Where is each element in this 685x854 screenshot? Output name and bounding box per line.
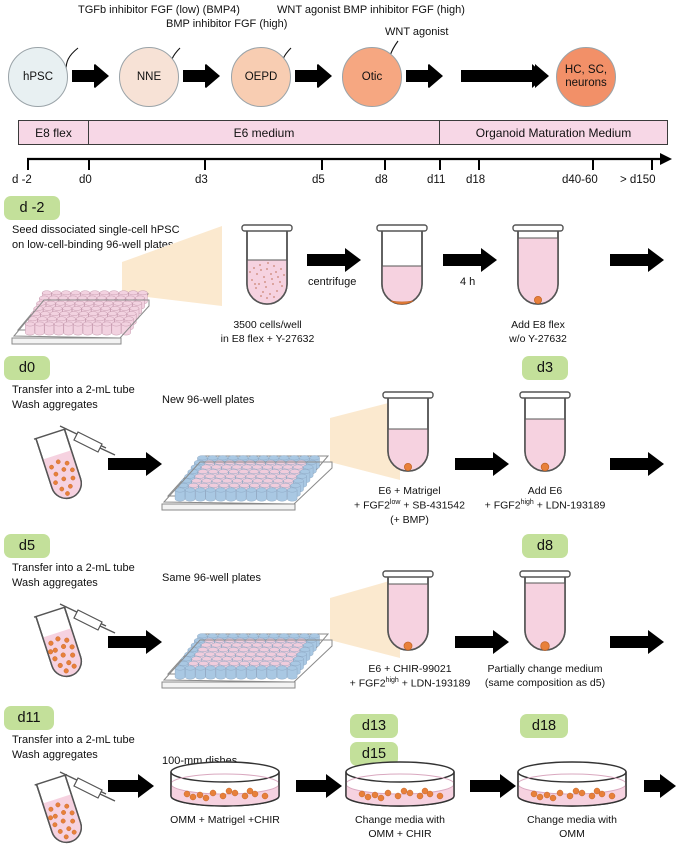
timeline-band-omm: Organoid Maturation Medium [439, 120, 668, 145]
day-badge-d3[interactable]: d3 [522, 356, 568, 380]
dish-d13-caption: Change media with OMM + CHIR [335, 813, 465, 841]
caption-line-3: (+ BMP) [352, 513, 467, 527]
caption-line-2-a: + FGF2 [485, 500, 521, 512]
caption-line-2-sup: high [521, 499, 534, 506]
day-badge-d18[interactable]: d18 [520, 714, 568, 738]
caption-line-1: E6 + Matrigel [352, 484, 467, 498]
dish-d11-caption: OMM + Matrigel +CHIR [160, 813, 290, 827]
lineage-row: TGFb inhibitor FGF (low) (BMP4) BMP inhi… [0, 0, 685, 118]
tube-d-2-e8flex[interactable] [508, 222, 568, 314]
day-badge-d11[interactable]: d11 [4, 706, 54, 730]
timeline-tick-d5: d5 [312, 174, 325, 186]
arrow-row1-end [610, 248, 672, 274]
tube-d3-adde6[interactable] [515, 389, 575, 481]
caption-line-2-a: + FGF2 [350, 678, 386, 690]
plate-96-well-pink[interactable] [8, 250, 153, 345]
timeline-tick-d40-60: d40-60 [562, 174, 598, 186]
caption-line-2-b: + SB-431542 [400, 500, 465, 512]
tube-d-2-seeded[interactable] [237, 222, 297, 314]
row-d5: d5 Transfer into a 2-mL tube Wash aggreg… [0, 528, 685, 696]
tube-d0-matrigel[interactable] [378, 389, 438, 481]
tube-d-2-seeded-caption: 3500 cells/well in E8 flex + Y-27632 [215, 318, 320, 346]
timeline-tick-d11: d11 [427, 174, 445, 186]
row-d11: d11 Transfer into a 2-mL tube Wash aggre… [0, 700, 685, 844]
tube-d0-matrigel-caption: E6 + Matrigel + FGF2low + SB-431542 (+ B… [352, 484, 467, 527]
arrow-4h [443, 248, 505, 274]
tube-d5-chir[interactable] [378, 568, 438, 660]
caption-line-2-sup: high [386, 677, 399, 684]
day-badge-d8[interactable]: d8 [522, 534, 568, 558]
arrow-row4-end [644, 774, 685, 800]
dish-d13-omm-chir[interactable] [340, 760, 460, 812]
timeline-band-e8flex: E8 flex [18, 120, 89, 145]
timeline-band-e6medium: E6 medium [88, 120, 440, 145]
timeline-tick-d-2: d -2 [12, 174, 32, 186]
tube-d3-adde6-caption: Add E6 + FGF2high + LDN-193189 [482, 484, 608, 513]
tube-d8-partialchange-caption: Partially change medium (same compositio… [478, 662, 612, 690]
arrow-d11-to-dish [108, 774, 163, 800]
caption-line-2: + FGF2high + LDN-193189 [347, 676, 473, 691]
dish-d18-caption: Change media with OMM [507, 813, 637, 841]
caption-line-2: + FGF2low + SB-431542 [352, 498, 467, 513]
timeline: E8 flex E6 medium Organoid Maturation Me… [0, 120, 685, 190]
row-d11-instruction: Transfer into a 2-mL tube Wash aggregate… [12, 733, 135, 763]
row-d-2: d -2 Seed dissociated single-cell hPSC o… [0, 196, 685, 354]
arrow-row2-end [610, 452, 672, 478]
dish-d18-omm[interactable] [512, 760, 632, 812]
lineage-arrows [0, 0, 685, 118]
tube-d-2-e8flex-caption: Add E8 flex w/o Y-27632 [490, 318, 586, 346]
plate-96-well-blue[interactable] [156, 412, 341, 512]
caption-line-2-a: + FGF2 [354, 500, 390, 512]
caption-line-1: E6 + CHIR-99021 [347, 662, 473, 676]
arrow-centrifuge [307, 248, 369, 274]
arrow-centrifuge-label: centrifuge [308, 276, 356, 288]
arrow-d5-to-d8 [455, 630, 517, 656]
timeline-tick-d18: d18 [466, 174, 485, 186]
arrow-d0-to-d3 [455, 452, 517, 478]
caption-line-2-b: + LDN-193189 [399, 678, 471, 690]
caption-line-2-b: + LDN-193189 [534, 500, 606, 512]
timeline-tick-d3: d3 [195, 174, 208, 186]
arrow-row3-end [610, 630, 672, 656]
timeline-tick-d150: > d150 [620, 174, 656, 186]
caption-line-2-sup: low [390, 499, 401, 506]
tube-d5-chir-caption: E6 + CHIR-99021 + FGF2high + LDN-193189 [347, 662, 473, 691]
caption-line-2: + FGF2high + LDN-193189 [482, 498, 608, 513]
timeline-tick-d0: d0 [79, 174, 92, 186]
day-badge-d13[interactable]: d13 [350, 714, 398, 738]
timeline-tick-d8: d8 [375, 174, 388, 186]
timeline-axis [0, 150, 685, 174]
row-d0: d0 Transfer into a 2-mL tube Wash aggreg… [0, 356, 685, 520]
dish-d11-omm-matrigel[interactable] [165, 760, 285, 812]
plate-96-well-blue-same[interactable] [156, 590, 341, 690]
arrow-4h-label: 4 h [460, 276, 475, 288]
tube-d8-partialchange[interactable] [515, 568, 575, 660]
caption-line-1: Add E6 [482, 484, 608, 498]
tube-d-2-pellet[interactable] [372, 222, 432, 314]
